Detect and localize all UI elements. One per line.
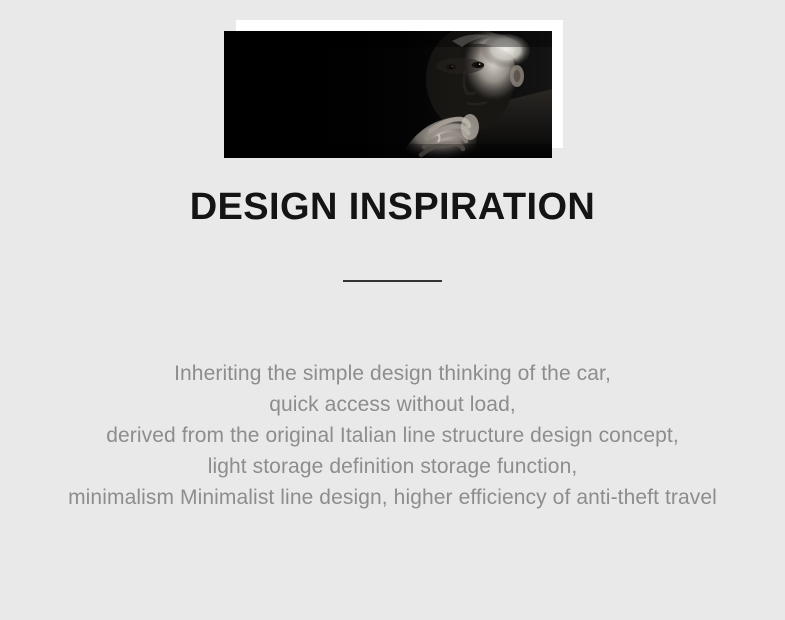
description-line: derived from the original Italian line s… — [0, 420, 785, 451]
description-line: minimalism Minimalist line design, highe… — [0, 482, 785, 513]
portrait-photo — [224, 31, 552, 158]
page-title: DESIGN INSPIRATION — [0, 184, 785, 230]
design-inspiration-page: DESIGN INSPIRATION Inheriting the simple… — [0, 0, 785, 620]
description-line: quick access without load, — [0, 389, 785, 420]
divider-rule — [343, 280, 442, 282]
description-paragraph: Inheriting the simple design thinking of… — [0, 358, 785, 513]
title-divider — [0, 274, 785, 288]
description-line: Inheriting the simple design thinking of… — [0, 358, 785, 389]
hero-image-block — [0, 0, 785, 175]
description-line: light storage definition storage functio… — [0, 451, 785, 482]
